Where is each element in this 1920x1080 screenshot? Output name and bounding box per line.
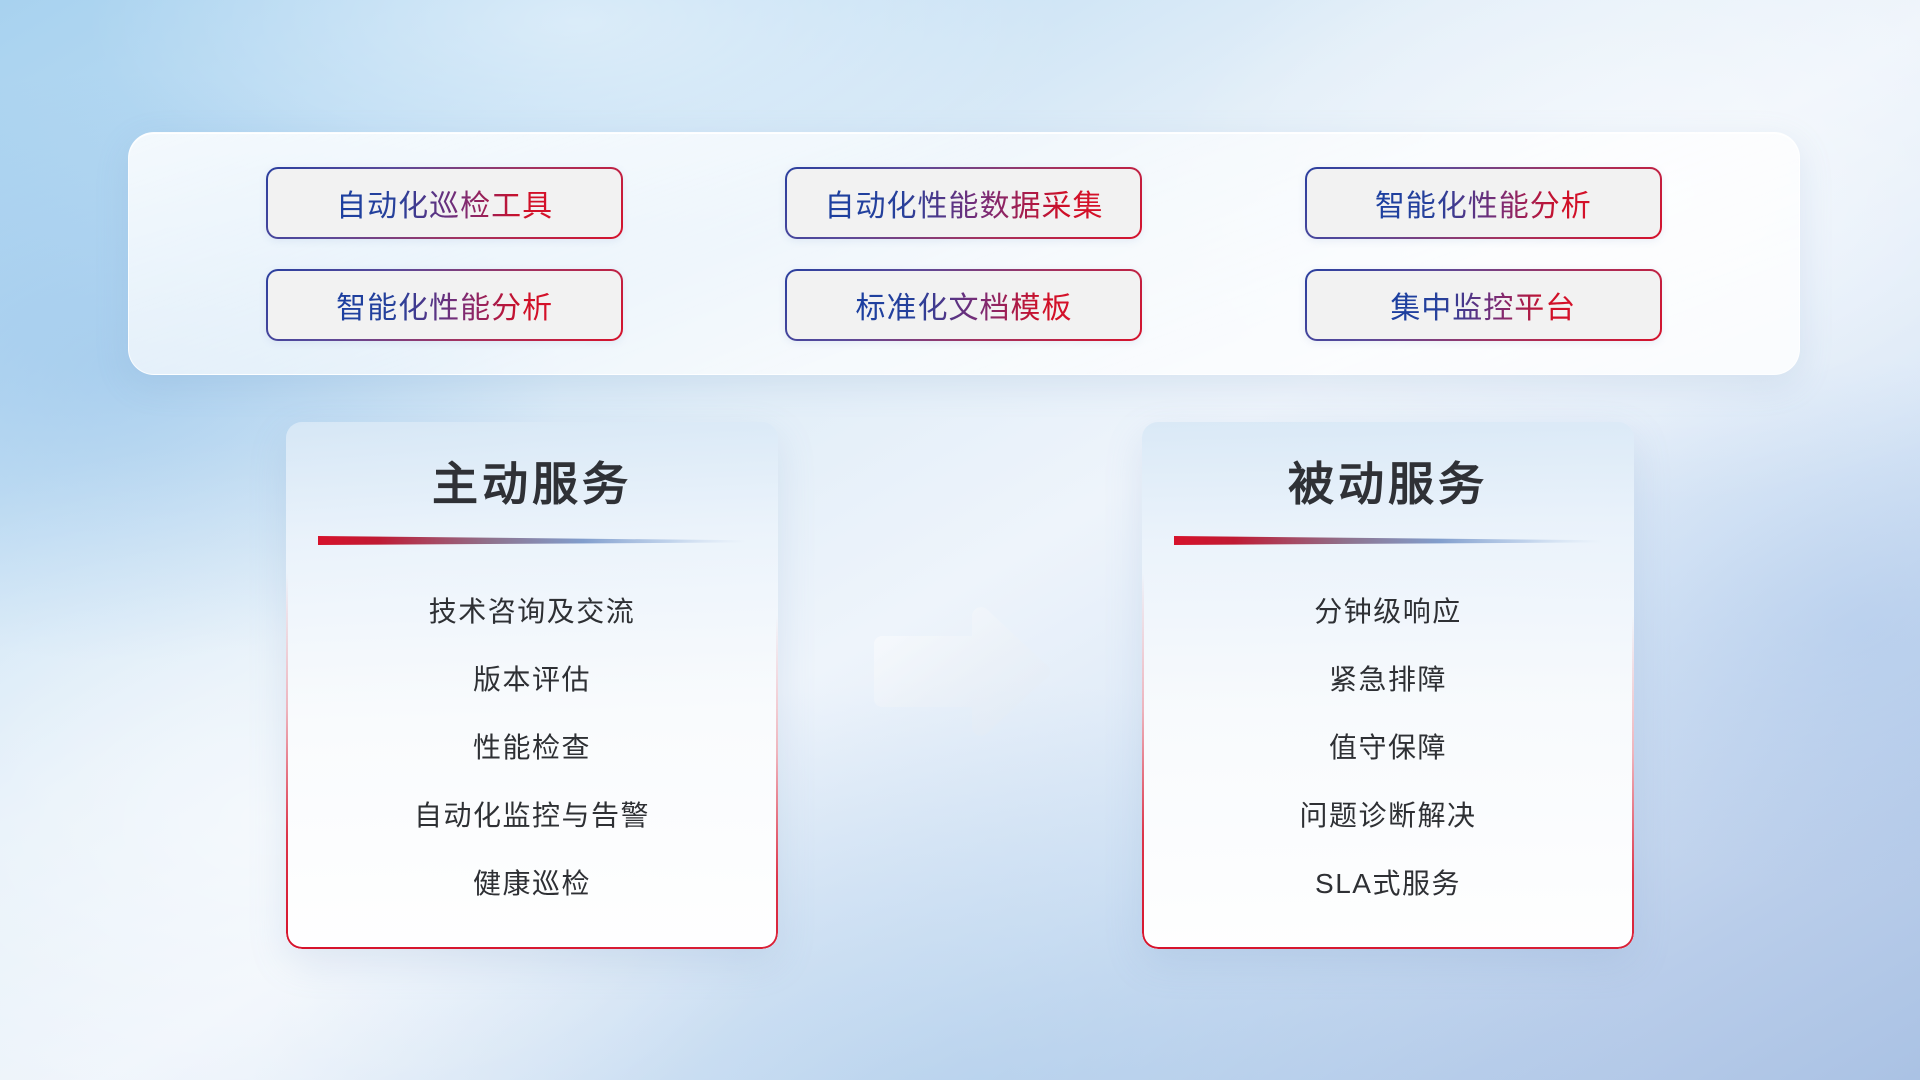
service-list-item: 版本评估 (316, 646, 748, 714)
service-list-item: 健康巡检 (316, 850, 748, 918)
service-card-proactive[interactable]: 主动服务 技术咨询及交流 版本评估 性能检查 自动化监控与告警 健康巡检 (286, 422, 778, 949)
service-card-reactive[interactable]: 被动服务 分钟级响应 紧急排障 值守保障 问题诊断解决 SLA式服务 (1142, 422, 1634, 949)
capability-pill[interactable]: 智能化性能分析 (266, 269, 623, 341)
capability-pill-label: 智能化性能分析 (1375, 181, 1592, 225)
capability-pill-face: 自动化巡检工具 (268, 169, 621, 237)
capability-pill-grid: 自动化巡检工具 自动化性能数据采集 智能化性能分析 智能化性能分析 (129, 167, 1799, 341)
capability-pill-label: 集中监控平台 (1390, 283, 1576, 327)
capability-pill-label: 智能化性能分析 (336, 283, 553, 327)
service-list-item: 自动化监控与告警 (316, 782, 748, 850)
gradient-divider (318, 534, 746, 548)
card-title: 主动服务 (316, 456, 748, 514)
capability-pill[interactable]: 标准化文档模板 (785, 269, 1142, 341)
capability-pill-face: 标准化文档模板 (787, 271, 1140, 339)
gradient-divider (1174, 534, 1602, 548)
capability-pill-label: 标准化文档模板 (855, 283, 1072, 327)
capability-pill-label: 自动化性能数据采集 (824, 181, 1103, 225)
service-list-item: 问题诊断解决 (1172, 782, 1604, 850)
capability-tags-panel: 自动化巡检工具 自动化性能数据采集 智能化性能分析 智能化性能分析 (128, 132, 1800, 375)
capability-pill-face: 自动化性能数据采集 (787, 169, 1140, 237)
service-list-item: 分钟级响应 (1172, 578, 1604, 646)
capability-pill[interactable]: 自动化性能数据采集 (785, 167, 1142, 239)
card-title: 被动服务 (1172, 456, 1604, 514)
capability-pill-face: 智能化性能分析 (1307, 169, 1660, 237)
capability-pill-face: 集中监控平台 (1307, 271, 1660, 339)
capability-pill-face: 智能化性能分析 (268, 271, 621, 339)
capability-pill[interactable]: 智能化性能分析 (1305, 167, 1662, 239)
service-list-item: 技术咨询及交流 (316, 578, 748, 646)
service-list-item: SLA式服务 (1172, 850, 1604, 918)
service-item-list: 分钟级响应 紧急排障 值守保障 问题诊断解决 SLA式服务 (1172, 578, 1604, 918)
service-item-list: 技术咨询及交流 版本评估 性能检查 自动化监控与告警 健康巡检 (316, 578, 748, 918)
capability-pill[interactable]: 集中监控平台 (1305, 269, 1662, 341)
right-arrow-icon (868, 604, 1054, 739)
service-list-item: 性能检查 (316, 714, 748, 782)
capability-pill[interactable]: 自动化巡检工具 (266, 167, 623, 239)
service-list-item: 值守保障 (1172, 714, 1604, 782)
slide-canvas: 自动化巡检工具 自动化性能数据采集 智能化性能分析 智能化性能分析 (0, 0, 1920, 1080)
capability-pill-label: 自动化巡检工具 (336, 181, 553, 225)
service-list-item: 紧急排障 (1172, 646, 1604, 714)
